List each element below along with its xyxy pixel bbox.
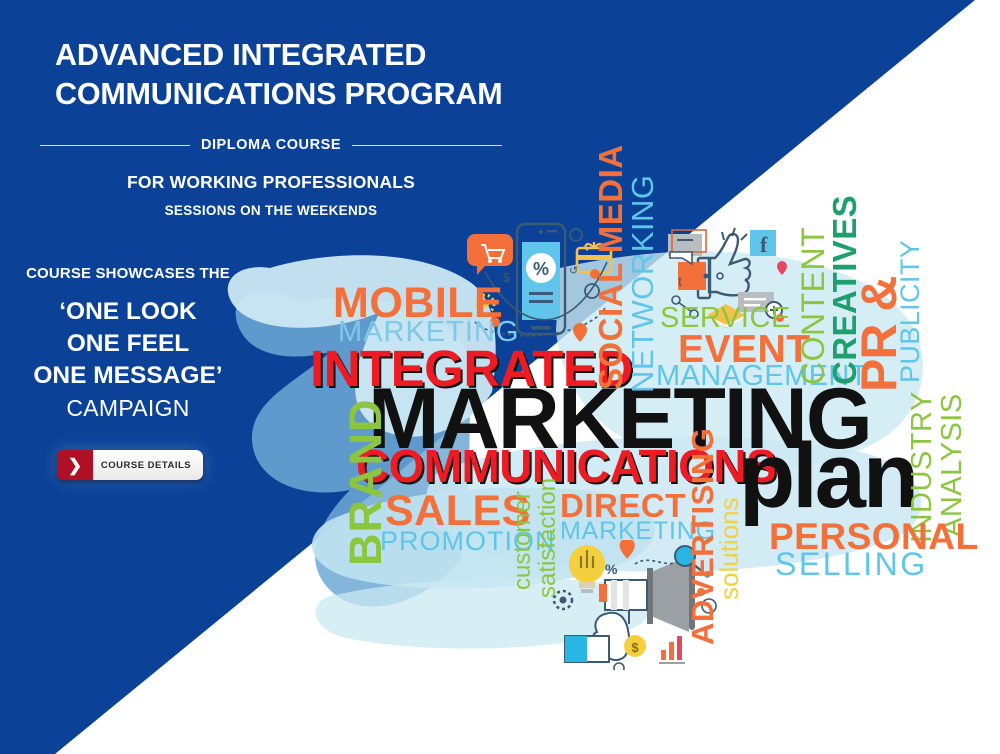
rule-right xyxy=(352,145,502,146)
cloud-word-advertising: ADVERTISING xyxy=(690,428,717,645)
slogan-line-1: ‘ONE LOOK xyxy=(14,296,242,328)
svg-text:↺: ↺ xyxy=(569,265,578,277)
slogan-line-3: ONE MESSAGE’ xyxy=(14,360,242,392)
cloud-word-satisfaction: satisfaction xyxy=(538,478,559,598)
cloud-word-solutions: solutions xyxy=(718,497,740,600)
diploma-course-label: DIPLOMA COURSE xyxy=(201,137,341,153)
poster-canvas: % $ ↺ xyxy=(0,0,1000,754)
diploma-rule-row: DIPLOMA COURSE xyxy=(40,137,502,153)
cloud-word-selling: SELLING xyxy=(775,551,928,579)
course-details-button[interactable]: ❯ COURSE DETAILS xyxy=(57,450,203,480)
svg-text:t: t xyxy=(678,273,683,290)
subtitle-sessions-weekends: SESSIONS ON THE WEEKENDS xyxy=(40,203,502,218)
page-title-line1: ADVANCED INTEGRATED xyxy=(55,38,426,72)
cloud-word-publicity: PUBLICITY xyxy=(899,240,922,383)
campaign-label: CAMPAIGN xyxy=(14,395,242,422)
cloud-word-networking: NETWORKING xyxy=(630,174,657,393)
svg-text:%: % xyxy=(605,561,618,577)
cloud-word-social-media: SOCIAL MEDIA xyxy=(597,144,625,390)
left-copy-panel: ADVANCED INTEGRATED COMMUNICATIONS PROGR… xyxy=(0,0,540,754)
svg-text:$: $ xyxy=(631,640,639,655)
course-details-label: COURSE DETAILS xyxy=(93,460,203,471)
page-title: ADVANCED INTEGRATED COMMUNICATIONS PROGR… xyxy=(55,36,525,115)
page-title-line2: COMMUNICATIONS PROGRAM xyxy=(55,75,525,114)
subtitle-working-professionals: FOR WORKING PROFESSIONALS xyxy=(40,172,502,193)
chevron-right-icon: ❯ xyxy=(57,450,93,480)
rule-left xyxy=(40,145,190,146)
showcase-lead-label: COURSE SHOWCASES THE xyxy=(14,265,242,282)
cloud-word-plan: plan xyxy=(739,437,916,516)
slogan-line-2: ONE FEEL xyxy=(14,328,242,360)
slogan-block: ‘ONE LOOK ONE FEEL ONE MESSAGE’ xyxy=(14,296,242,392)
cloud-word-content: CONTENT xyxy=(800,227,828,385)
svg-text:f: f xyxy=(760,232,768,257)
